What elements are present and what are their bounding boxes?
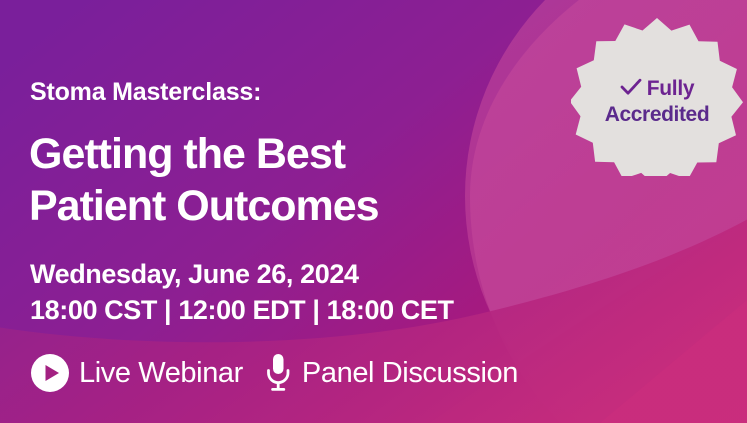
checkmark-icon (620, 78, 642, 96)
event-times: 18:00 CST | 12:00 EDT | 18:00 CET (30, 292, 454, 328)
event-format-row: Live Webinar Panel Discussion (30, 350, 518, 396)
meta-label-live-webinar: Live Webinar (79, 357, 243, 390)
webinar-promo-banner: Stoma Masterclass: Getting the Best Pati… (0, 0, 747, 423)
banner-content: Stoma Masterclass: Getting the Best Pati… (0, 0, 747, 423)
meta-item-panel-discussion: Panel Discussion (263, 352, 518, 394)
badge-label-fully: Fully (647, 77, 695, 100)
event-datetime: Wednesday, June 26, 2024 18:00 CST | 12:… (30, 256, 454, 328)
badge-line-1: Fully (571, 76, 743, 102)
play-circle-icon (30, 353, 70, 393)
microphone-icon (263, 352, 293, 394)
badge-label-accredited: Accredited (571, 102, 743, 128)
headline-line-2: Patient Outcomes (29, 180, 379, 232)
event-date: Wednesday, June 26, 2024 (30, 256, 454, 292)
headline-line-1: Getting the Best (29, 128, 379, 180)
meta-label-panel-discussion: Panel Discussion (302, 357, 518, 390)
page-title: Getting the Best Patient Outcomes (29, 128, 379, 232)
status-badge: Fully Accredited (571, 16, 743, 176)
eyebrow-text: Stoma Masterclass: (30, 78, 261, 107)
meta-item-live-webinar: Live Webinar (30, 353, 243, 393)
badge-text-block: Fully Accredited (571, 76, 743, 128)
